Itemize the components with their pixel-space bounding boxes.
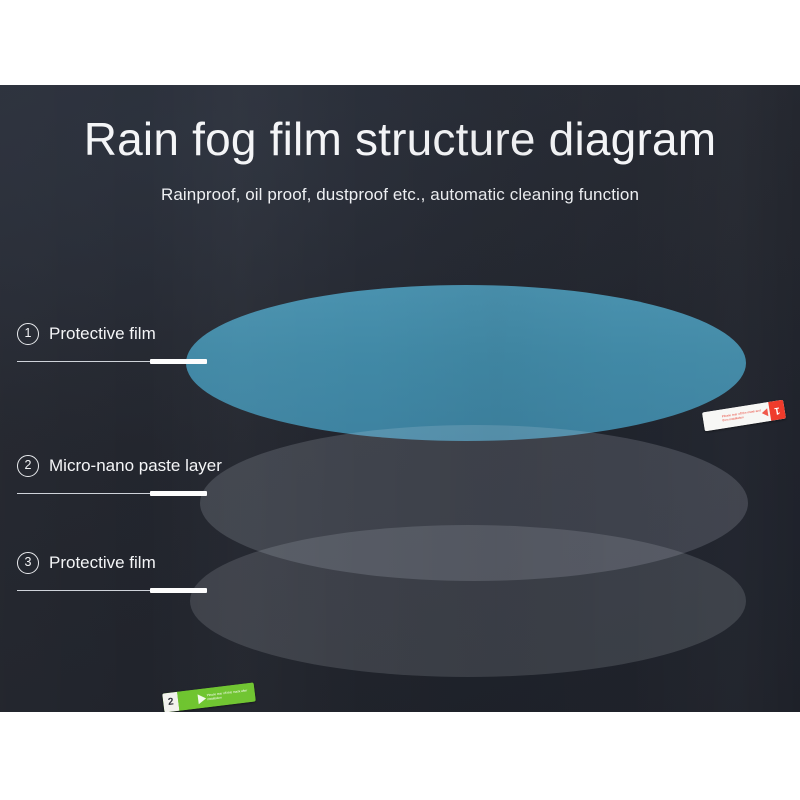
callout-micro-nano-paste-layer: 2 Micro-nano paste layer	[0, 455, 222, 477]
pull-tab-green-body: Please tear off this mask after installa…	[177, 682, 256, 710]
page-subtitle: Rainproof, oil proof, dustproof etc., au…	[0, 185, 800, 205]
pull-tab-red-body: Please tear off the mask and then instal…	[702, 402, 771, 431]
callout-label: Protective film	[49, 553, 156, 573]
callout-head: 3 Protective film	[0, 552, 156, 574]
callout-head: 1 Protective film	[0, 323, 156, 345]
leader-line-thin	[17, 493, 150, 494]
arrow-icon	[197, 693, 206, 704]
pull-tab-green-text: Please tear off this mask after installa…	[207, 689, 252, 702]
pull-tab-red: Please tear off the mask and then instal…	[702, 400, 786, 432]
callout-label: Protective film	[49, 324, 156, 344]
leader-line-thin	[17, 361, 150, 362]
leader-line	[17, 491, 207, 496]
rain-fog-film-structure-diagram: Rain fog film structure diagram Rainproo…	[0, 0, 800, 800]
callout-head: 2 Micro-nano paste layer	[0, 455, 222, 477]
leader-line	[17, 588, 207, 593]
film-layer-protective-top	[186, 285, 746, 441]
leader-line-thick	[150, 359, 207, 364]
arrow-icon	[761, 408, 768, 417]
callout-label: Micro-nano paste layer	[49, 456, 222, 476]
callout-number-badge: 1	[17, 323, 39, 345]
callout-protective-film-top: 1 Protective film	[0, 323, 156, 345]
leader-line	[17, 359, 207, 364]
leader-line-thick	[150, 491, 207, 496]
leader-line-thick	[150, 588, 207, 593]
film-layer-protective-bottom	[190, 525, 746, 677]
diagram-panel: Rain fog film structure diagram Rainproo…	[0, 85, 800, 712]
pull-tab-red-number: 1	[768, 400, 786, 421]
pull-tab-red-text: Please tear off the mask and then instal…	[722, 408, 767, 423]
callout-protective-film-bottom: 3 Protective film	[0, 552, 156, 574]
pull-tab-green: 2 Please tear off this mask after instal…	[162, 682, 256, 712]
callout-number-badge: 2	[17, 455, 39, 477]
leader-line-thin	[17, 590, 150, 591]
page-title: Rain fog film structure diagram	[0, 112, 800, 166]
callout-number-badge: 3	[17, 552, 39, 574]
